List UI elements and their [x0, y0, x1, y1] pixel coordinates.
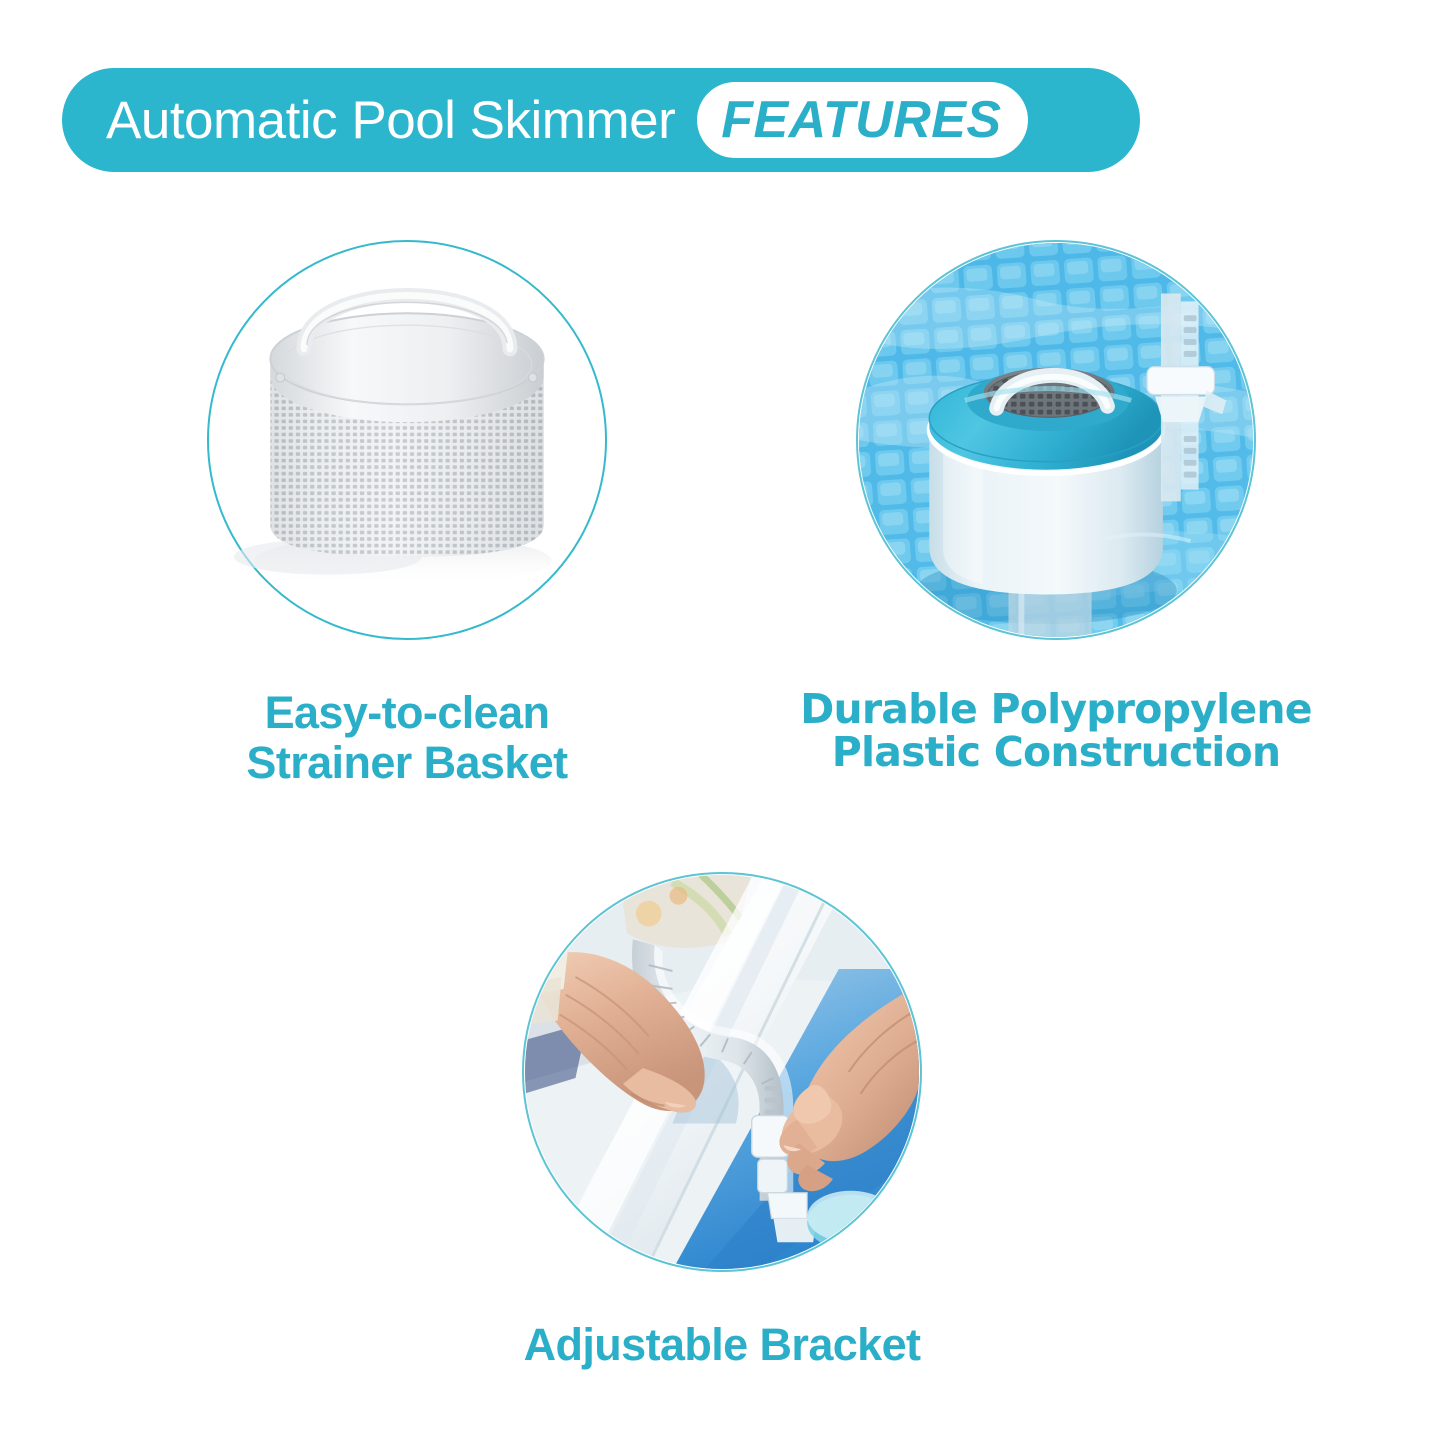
- features-badge-label: FEATURES: [721, 94, 1001, 146]
- caption-line-1: Adjustable Bracket: [524, 1320, 921, 1370]
- features-badge: FEATURES: [697, 82, 1027, 158]
- caption-line-1: Easy-to-clean: [246, 688, 567, 738]
- feature-card-plastic-construction: Durable Polypropylene Plastic Constructi…: [756, 240, 1356, 774]
- feature-card-strainer-basket: Easy-to-clean Strainer Basket: [107, 240, 707, 789]
- caption-line-2: Plastic Construction: [800, 731, 1311, 774]
- feature-card-adjustable-bracket: Adjustable Bracket: [422, 872, 1022, 1370]
- strainer-basket-image: [207, 240, 607, 640]
- feature-caption-strainer-basket: Easy-to-clean Strainer Basket: [246, 688, 567, 789]
- plastic-construction-image: [856, 240, 1256, 640]
- feature-caption-plastic-construction: Durable Polypropylene Plastic Constructi…: [800, 688, 1311, 774]
- feature-caption-adjustable-bracket: Adjustable Bracket: [524, 1320, 921, 1370]
- adjustable-bracket-image: [522, 872, 922, 1272]
- caption-line-2: Strainer Basket: [246, 738, 567, 788]
- hands-installing-bracket-illustration: [524, 874, 920, 1270]
- caption-line-1: Durable Polypropylene: [800, 688, 1311, 731]
- page-title: Automatic Pool Skimmer: [106, 94, 675, 147]
- skimmer-in-pool-illustration: [858, 242, 1254, 638]
- header-banner: Automatic Pool Skimmer FEATURES: [62, 68, 1140, 172]
- strainer-basket-illustration: [209, 242, 605, 638]
